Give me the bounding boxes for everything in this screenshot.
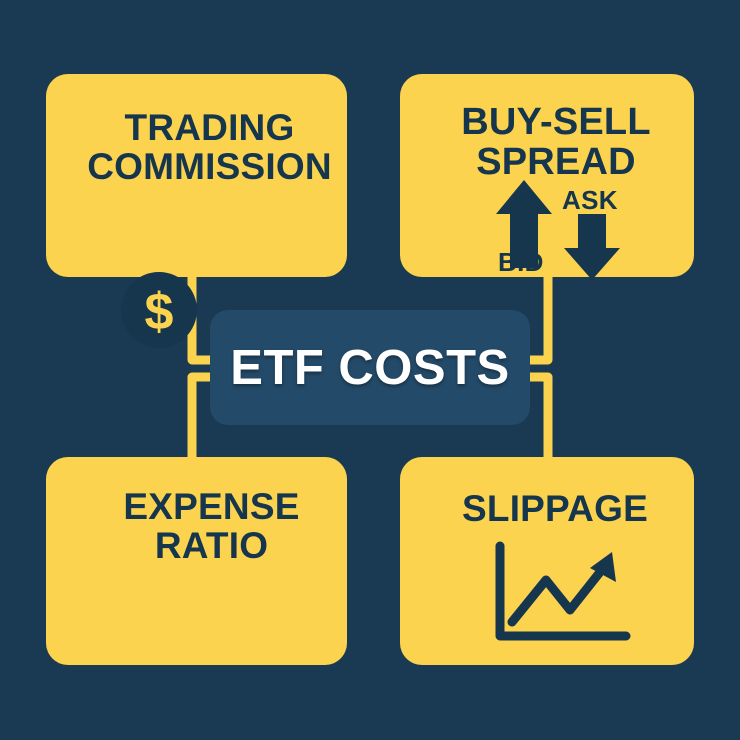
hub-node-etf-costs[interactable]: ETF COSTS	[210, 310, 530, 425]
node-expense-ratio[interactable]: EXPENSE RATIO	[46, 457, 347, 665]
line-chart-icon	[486, 538, 646, 655]
dollar-circle-icon: $	[120, 271, 198, 354]
node-label-slippage: SLIPPAGE	[400, 489, 694, 528]
chart-trend-line	[512, 562, 608, 622]
ask-label: ASK	[562, 185, 618, 216]
arrow-down-ask	[564, 214, 620, 280]
hub-label: ETF COSTS	[230, 340, 509, 396]
node-label-buy-sell-spread: BUY-SELL SPREAD	[400, 102, 694, 183]
bid-label: BID	[498, 247, 544, 278]
svg-text:$: $	[145, 283, 174, 341]
node-label-expense-ratio: EXPENSE RATIO	[46, 487, 347, 565]
node-trading-commission[interactable]: TRADING COMMISSION $	[46, 74, 347, 277]
diagram-canvas: TRADING COMMISSION $ BUY-SELL SPREAD BID…	[0, 0, 740, 740]
node-label-trading-commission: TRADING COMMISSION	[46, 108, 347, 186]
